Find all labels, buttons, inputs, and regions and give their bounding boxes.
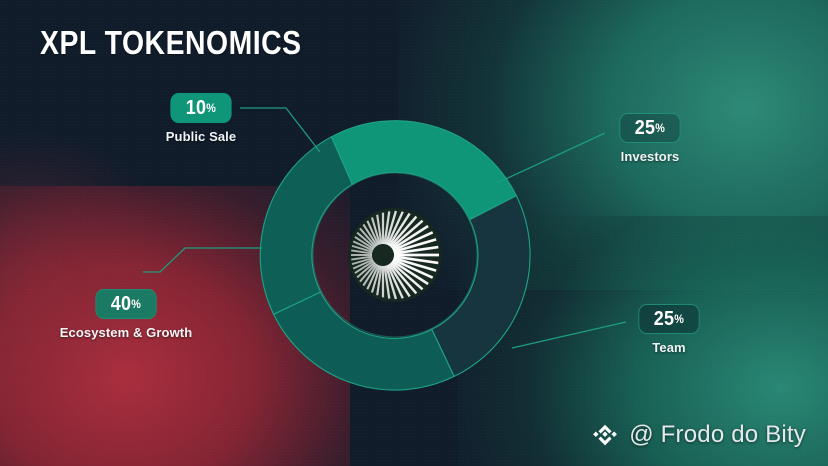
badge-ecosystem-suffix: %: [131, 298, 141, 310]
slice-ecosystem-growth[interactable]: [260, 137, 352, 314]
callout-ecosystem-growth[interactable]: 40% Ecosystem & Growth: [52, 289, 200, 340]
badge-public-sale-suffix: %: [206, 102, 216, 114]
badge-team-value: 25: [654, 309, 675, 329]
badge-ecosystem-value: 40: [111, 294, 132, 314]
badge-ecosystem-percent[interactable]: 40%: [95, 289, 156, 319]
slice-investors[interactable]: [432, 196, 530, 377]
callout-label-public-sale: Public Sale: [163, 129, 239, 144]
callout-label-ecosystem-growth: Ecosystem & Growth: [52, 325, 200, 340]
badge-investors-percent[interactable]: 25%: [619, 113, 680, 143]
badge-public-sale-percent[interactable]: 10%: [170, 93, 231, 123]
badge-investors-suffix: %: [655, 122, 665, 134]
callout-public-sale[interactable]: 10% Public Sale: [163, 93, 239, 144]
callout-team[interactable]: 25% Team: [628, 304, 710, 355]
badge-public-sale-value: 10: [186, 98, 207, 118]
badge-investors-value: 25: [635, 118, 656, 138]
leader-line-investors: [497, 133, 605, 183]
callout-label-team: Team: [628, 340, 710, 355]
slice-public-sale[interactable]: [331, 121, 516, 220]
badge-team-percent[interactable]: 25%: [638, 304, 699, 334]
watermark: @ Frodo do Bity: [590, 420, 806, 450]
leader-line-team: [512, 322, 626, 348]
binance-diamond-icon: [590, 420, 620, 450]
leader-line-ecosystem: [143, 248, 262, 272]
slice-team[interactable]: [274, 292, 455, 390]
infographic-canvas: XPL TOKENOMICS: [0, 0, 828, 466]
watermark-handle: @ Frodo do Bity: [629, 421, 806, 449]
plasma-radial-burst-logo: [348, 208, 442, 302]
donut-chart: [0, 0, 828, 466]
callout-investors[interactable]: 25% Investors: [607, 113, 693, 164]
callout-label-investors: Investors: [607, 149, 693, 164]
leader-line-public-sale: [240, 108, 320, 152]
badge-team-suffix: %: [674, 313, 684, 325]
